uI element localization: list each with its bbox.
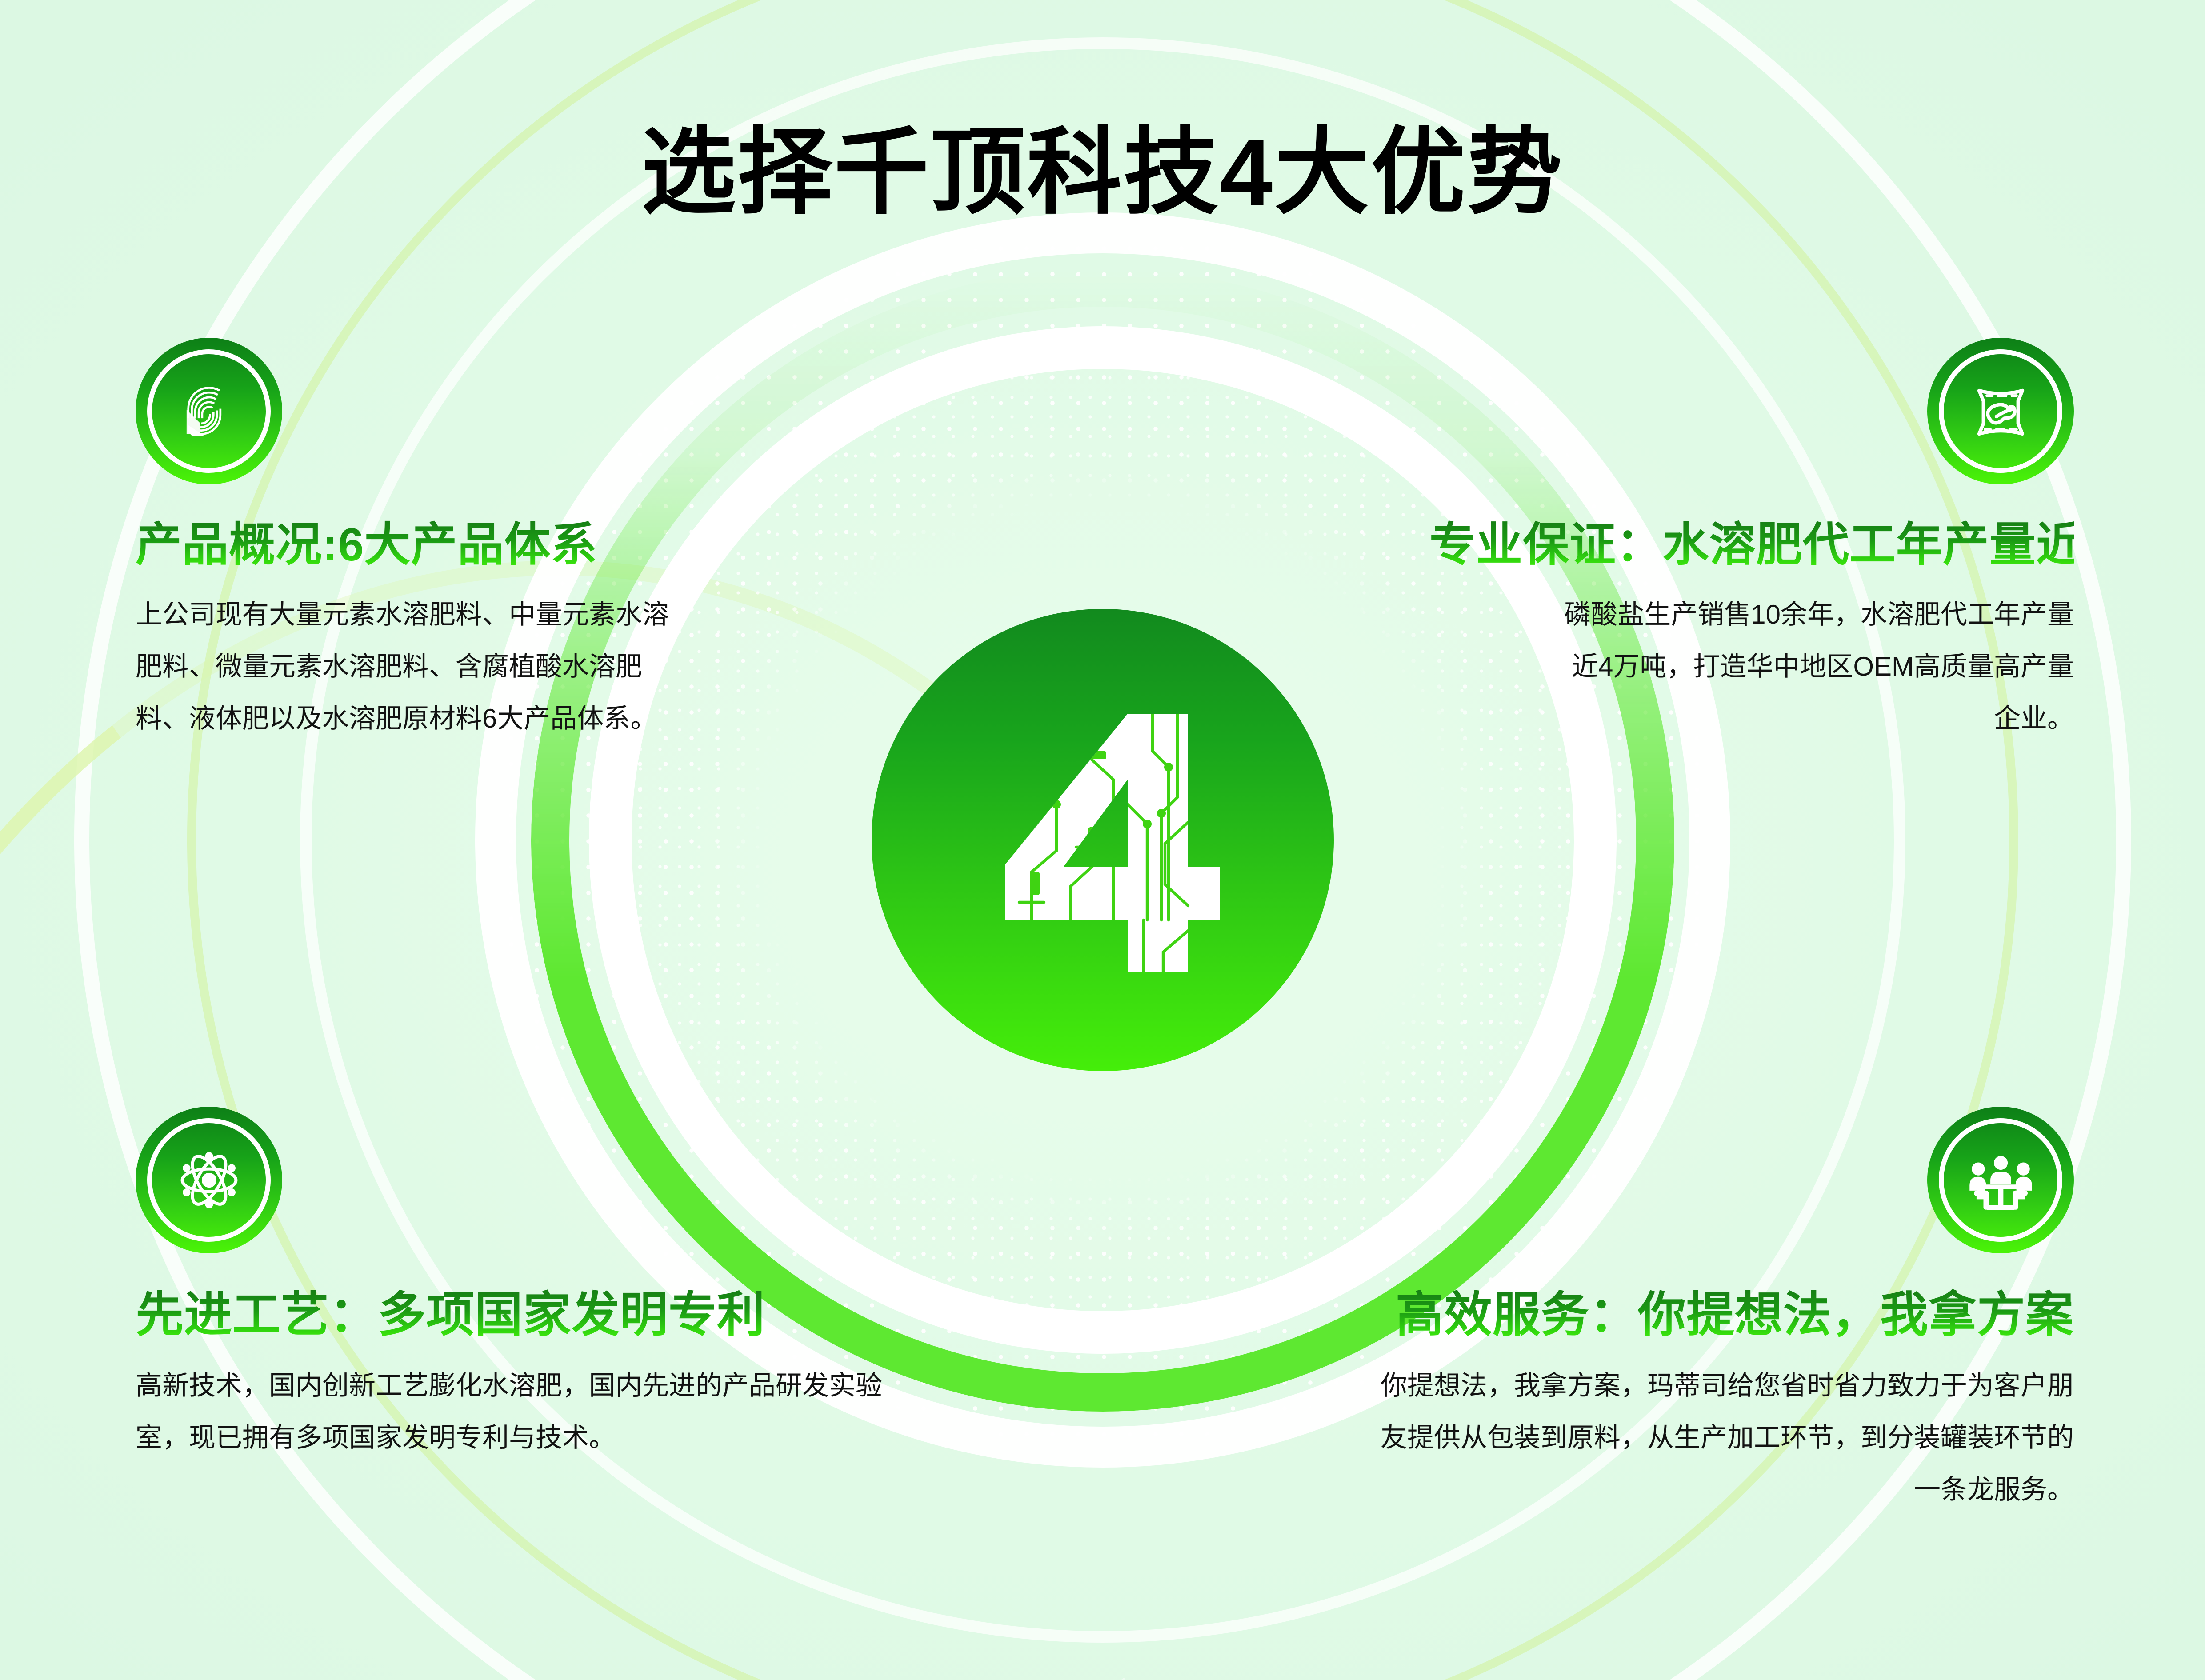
advantage-body-bottom-right: 你提想法，我拿方案，玛蒂司给您省时省力致力于为客户朋友提供从包装到原料，从生产加…	[1363, 1360, 2074, 1516]
fertilizer-bag-badge	[1927, 338, 2074, 484]
advantage-body-top-right: 磷酸盐生产销售10余年，水溶肥代工年产量近4万吨，打造华中地区OEM高质量高产量…	[1549, 588, 2074, 744]
number-six-icon	[166, 368, 252, 455]
advantages-poster: 选择千顶科技4大优势	[0, 0, 2205, 1680]
center-number-badge	[872, 609, 1334, 1071]
meeting-people-icon	[1957, 1137, 2044, 1224]
meeting-people-badge	[1927, 1107, 2074, 1253]
advantage-body-top-left: 上公司现有大量元素水溶肥料、中量元素水溶肥料、微量元素水溶肥料、含腐植酸水溶肥料…	[136, 588, 691, 744]
advantage-heading-bottom-right: 高效服务：你提想法，我拿方案	[1318, 1288, 2074, 1342]
page-title: 选择千顶科技4大优势	[0, 96, 2205, 232]
advantage-card-bottom-left: 先进工艺：多项国家发明专利 高新技术，国内创新工艺膨化水溶肥，国内先进的产品研发…	[136, 1107, 891, 1464]
advantage-card-top-right: 专业保证：水溶肥代工年产量近4万吨 磷酸盐生产销售10余年，水溶肥代工年产量近4…	[1429, 338, 2074, 744]
advantage-heading-top-left: 产品概况:6大产品体系	[136, 519, 713, 571]
advantage-card-top-left: 产品概况:6大产品体系 上公司现有大量元素水溶肥料、中量元素水溶肥料、微量元素水…	[136, 338, 713, 744]
number-six-badge	[136, 338, 282, 484]
advantage-heading-bottom-left: 先进工艺：多项国家发明专利	[136, 1288, 891, 1342]
advantage-card-bottom-right: 高效服务：你提想法，我拿方案 你提想法，我拿方案，玛蒂司给您省时省力致力于为客户…	[1318, 1107, 2074, 1516]
tech-number-four-icon	[978, 698, 1227, 982]
advantage-heading-top-right: 专业保证：水溶肥代工年产量近4万吨	[1429, 519, 2074, 571]
atom-icon	[166, 1137, 252, 1224]
advantage-body-bottom-left: 高新技术，国内创新工艺膨化水溶肥，国内先进的产品研发实验室，现已拥有多项国家发明…	[136, 1360, 891, 1464]
atom-badge	[136, 1107, 282, 1253]
fertilizer-bag-icon	[1957, 368, 2044, 455]
